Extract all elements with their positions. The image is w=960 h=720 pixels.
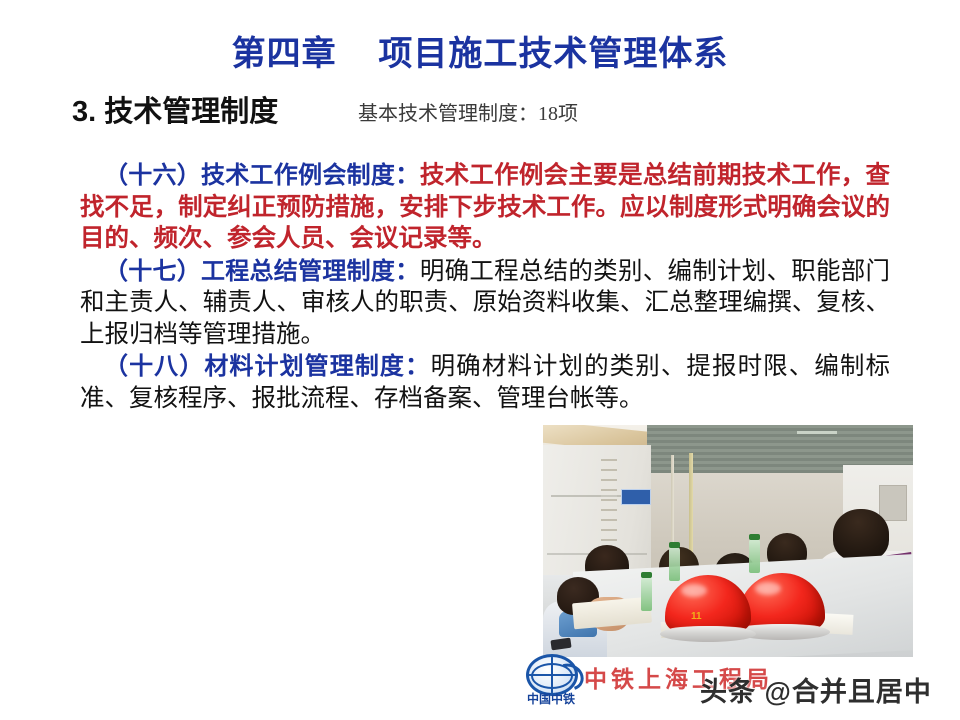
- photo-helmet-highlight: [755, 582, 781, 595]
- photo-window: [879, 485, 907, 521]
- photo-scene: 11: [543, 425, 913, 657]
- photo-helmet-highlight: [681, 584, 707, 597]
- section-heading-row: 3. 技术管理制度 基本技术管理制度：18项: [72, 88, 932, 128]
- crec-logo-label: 中国中铁: [520, 690, 582, 707]
- photo-helmet-marking: 11: [691, 611, 702, 622]
- item-lead-label: （十六）技术工作例会制度: [104, 162, 395, 189]
- list-item: （十六）技术工作例会制度：技术工作例会主要是总结前期技术工作，查找不足，制定纠正…: [80, 160, 890, 255]
- crec-logo-icon: 中国中铁: [520, 654, 582, 710]
- watermark-overlay-text: 头条 @合并且居中: [700, 670, 932, 709]
- item-lead-label: （十七）工程总结管理制度: [104, 258, 395, 285]
- photo-bottle-cap: [641, 572, 652, 578]
- photo-bottle-cap: [749, 534, 760, 540]
- meeting-photo: 11: [543, 425, 913, 657]
- body-content: （十六）技术工作例会制度：技术工作例会主要是总结前期技术工作，查找不足，制定纠正…: [80, 160, 890, 414]
- photo-bottle-cap: [669, 542, 680, 548]
- item-lead-label: （十八）材料计划管理制度: [104, 353, 405, 380]
- item-colon: ：: [395, 258, 420, 285]
- section-number-label: 3. 技术管理制度: [72, 88, 278, 130]
- photo-water-bottle: [749, 539, 760, 573]
- list-item: （十八）材料计划管理制度：明确材料计划的类别、提报时限、编制标准、复核程序、报批…: [80, 351, 890, 414]
- photo-person-head: [833, 509, 889, 561]
- photo-pole: [689, 453, 693, 565]
- slide-root: 第四章 项目施工技术管理体系 3. 技术管理制度 基本技术管理制度：18项 （十…: [0, 0, 960, 720]
- photo-water-bottle: [641, 577, 652, 611]
- watermark-band: 中国中铁 中铁上海工程局 头条 @合并且居中: [510, 652, 960, 714]
- photo-shutter-highlight: [797, 431, 837, 434]
- item-colon: ：: [395, 162, 420, 189]
- item-colon: ：: [405, 353, 431, 380]
- photo-helmet-brim: [660, 626, 756, 642]
- section-subtitle-label: 基本技术管理制度：18项: [358, 97, 578, 126]
- list-item: （十七）工程总结管理制度：明确工程总结的类别、编制计划、职能部门和主责人、辅责人…: [80, 256, 890, 351]
- photo-pole: [671, 455, 674, 555]
- slide-title: 第四章 项目施工技术管理体系: [0, 26, 960, 75]
- photo-wall-sign: [621, 489, 651, 505]
- photo-water-bottle: [669, 547, 680, 581]
